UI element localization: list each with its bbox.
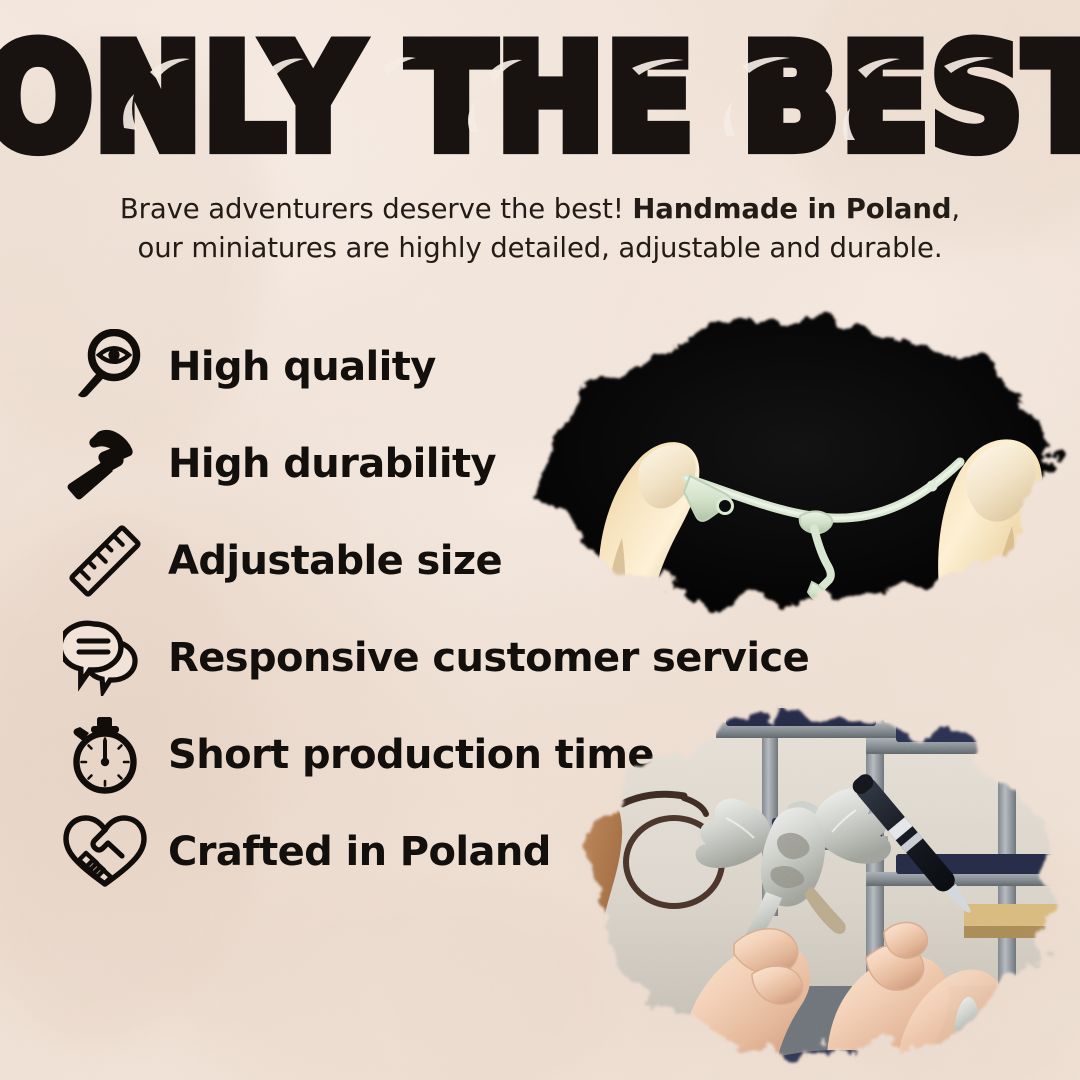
hammer-icon — [62, 424, 148, 504]
speech-bubbles-icon — [62, 618, 148, 698]
feature-label: Responsive customer service — [168, 638, 809, 678]
feature-label: Adjustable size — [168, 541, 502, 581]
workshop-crafting-scene — [566, 686, 1080, 1080]
headline-text: ONLY THE BEST — [0, 15, 1080, 182]
ruler-icon — [62, 521, 148, 601]
page-title: ONLY THE BEST — [0, 27, 1080, 171]
subtitle-line1-post: , — [951, 193, 960, 225]
subtitle-highlight: Handmade in Poland — [632, 193, 951, 225]
subtitle-line-1: Brave adventurers deserve the best! Hand… — [60, 190, 1020, 229]
feature-label: High quality — [168, 347, 436, 387]
subtitle-line1-pre: Brave adventurers deserve the best! — [120, 193, 632, 225]
feature-label: Crafted in Poland — [168, 832, 551, 872]
feature-label: High durability — [168, 444, 496, 484]
stopwatch-icon — [62, 715, 148, 795]
flexible-miniature-photo — [514, 300, 1080, 630]
subtitle-line-2: our miniatures are highly detailed, adju… — [60, 229, 1020, 268]
background-blob — [180, 880, 610, 1080]
subtitle: Brave adventurers deserve the best! Hand… — [60, 190, 1020, 268]
flexible-miniature-scene — [514, 300, 1080, 630]
magnifier-eye-icon — [62, 327, 148, 407]
handshake-heart-icon — [62, 812, 148, 892]
promo-graphic-canvas: ONLY THE BEST Brave adventurers deserve … — [0, 0, 1080, 1080]
workshop-crafting-photo — [566, 686, 1080, 1080]
